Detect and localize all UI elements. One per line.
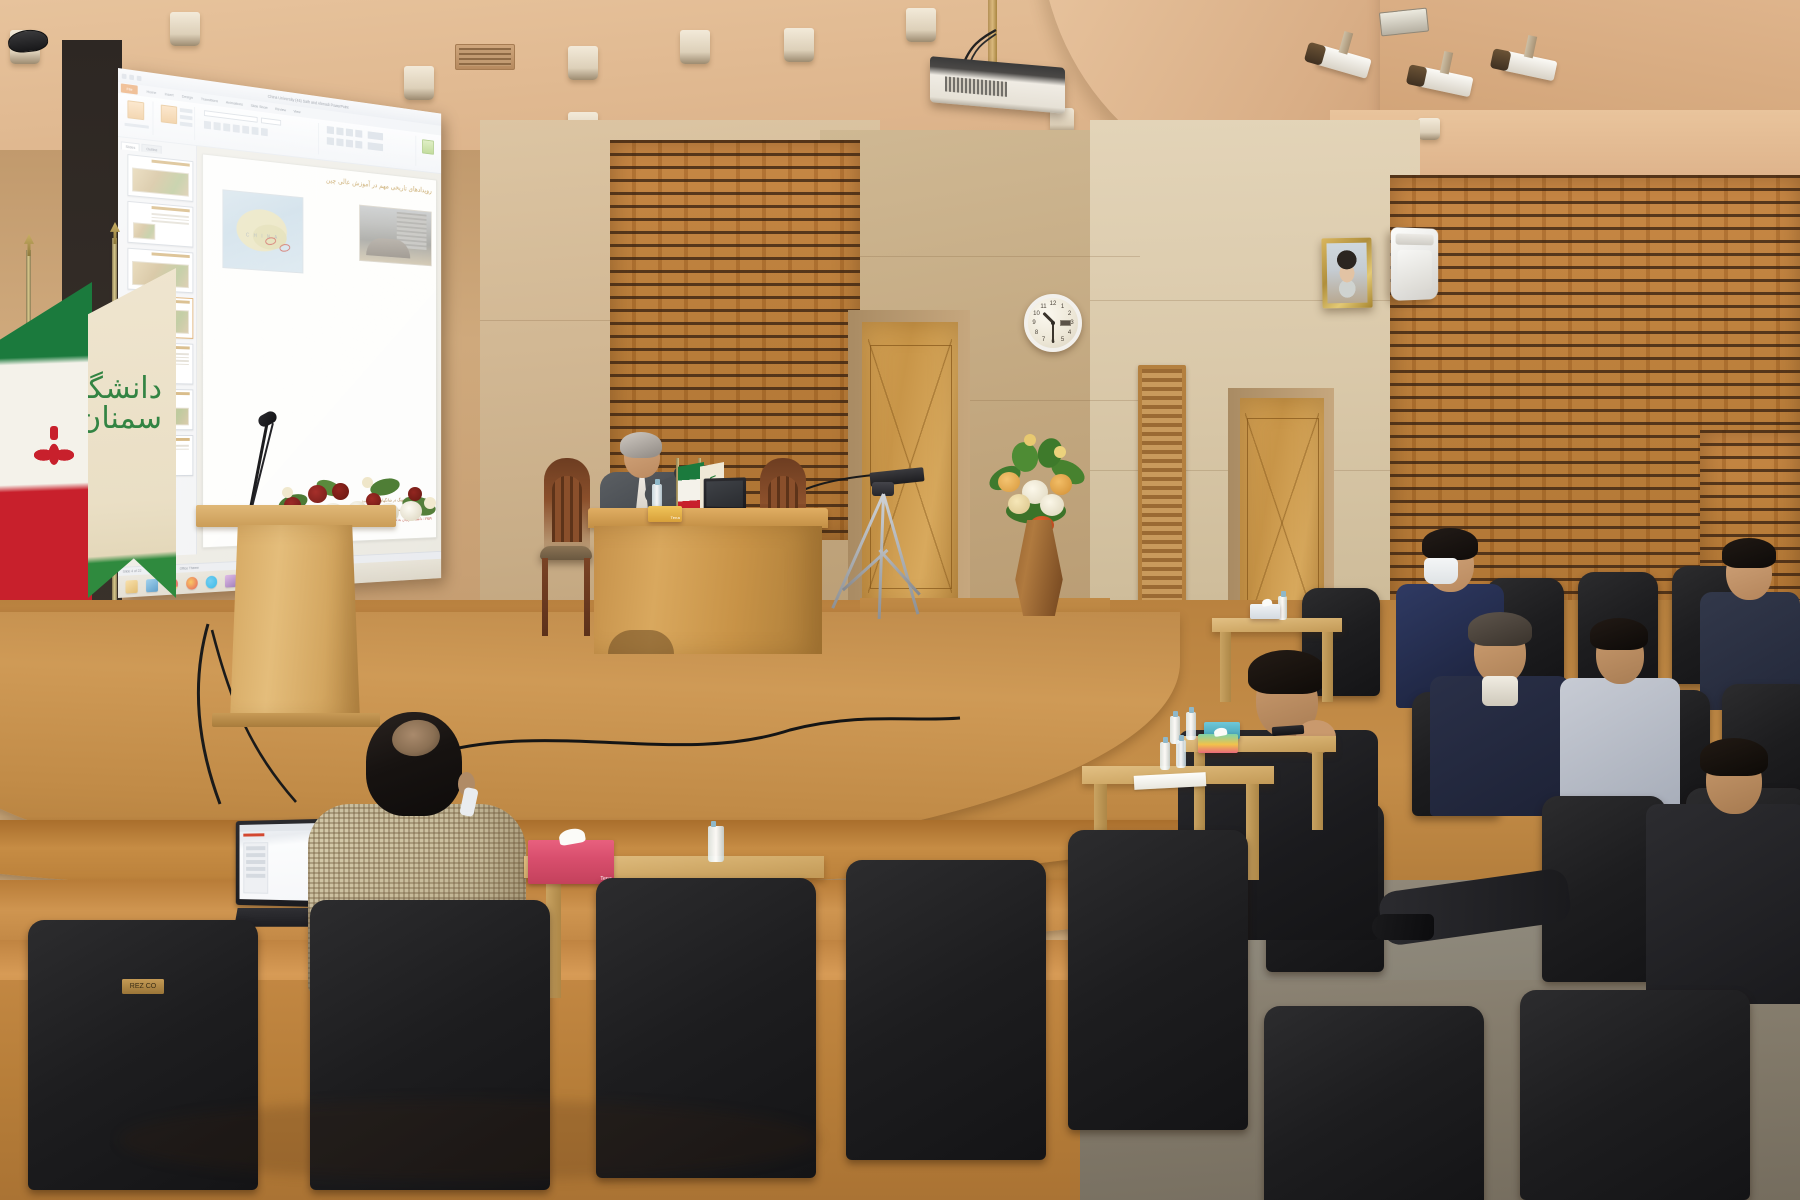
portrait-image — [1326, 243, 1367, 304]
person-hair — [1722, 538, 1776, 568]
table-leg — [1312, 752, 1323, 830]
audience-seat-front[interactable] — [1068, 830, 1248, 1130]
flower-cream-bud — [424, 497, 436, 509]
pane-tab-slides[interactable]: Slides — [121, 141, 140, 151]
slide-thumbnail[interactable]: 2 — [127, 201, 193, 248]
wall-clock: 12 1 2 3 4 5 6 7 8 9 10 11 — [1024, 294, 1082, 352]
wall-loudspeaker — [1391, 227, 1439, 301]
downlight-icon — [1418, 118, 1440, 140]
tissue-box[interactable] — [1250, 604, 1280, 619]
underline-button[interactable] — [223, 123, 230, 132]
tissue-brand-label: Tena — [671, 515, 680, 520]
person-hair — [1248, 650, 1326, 694]
thumb-image — [132, 167, 189, 196]
person-hair — [1422, 528, 1478, 560]
audience-seat-front[interactable] — [846, 860, 1046, 1160]
increase-indent-button[interactable] — [355, 130, 362, 138]
table-leg — [1322, 632, 1333, 702]
downlight-icon — [680, 30, 710, 64]
clock-date-window — [1060, 320, 1071, 326]
shapes-gallery-button[interactable] — [422, 139, 434, 155]
paste-button[interactable] — [127, 100, 144, 120]
person-collar — [1482, 676, 1518, 706]
section-button[interactable] — [180, 122, 193, 127]
laptop-lid — [704, 477, 746, 510]
ribbon-tab-insert[interactable]: Insert — [165, 91, 174, 97]
podium-lectern-top — [196, 505, 396, 527]
pane-tab-outline[interactable]: Outline — [142, 144, 162, 154]
clock-numeral: 7 — [1042, 337, 1045, 343]
ribbon-group-slides — [157, 102, 195, 140]
flower-cream-bloom — [1008, 494, 1030, 514]
ribbon-tab-design[interactable]: Design — [182, 94, 193, 100]
clock-numeral: 12 — [1050, 301, 1057, 307]
framed-portrait — [1321, 238, 1372, 309]
flower-orange-bloom — [998, 472, 1020, 492]
water-bottle[interactable] — [1176, 740, 1186, 768]
text-direction-button[interactable] — [368, 142, 383, 151]
slide-thumbnail[interactable]: 1 — [127, 154, 193, 202]
bold-button[interactable] — [204, 121, 211, 130]
wooden-louver-vent — [1138, 365, 1186, 615]
person-hair — [1590, 618, 1648, 650]
clock-numeral: 4 — [1068, 330, 1071, 336]
wooden-chair-left[interactable] — [540, 458, 592, 636]
ribbon-tab-transitions[interactable]: Transitions — [201, 96, 218, 103]
flower-red-rose — [408, 487, 422, 501]
laptop-app-accent — [243, 833, 264, 836]
flower-red-rose — [308, 485, 327, 503]
water-bottle-front[interactable] — [708, 826, 724, 862]
iran-national-flag — [0, 282, 92, 642]
align-left-button[interactable] — [327, 137, 334, 145]
downlight-icon — [906, 8, 936, 42]
tripod-leg — [882, 494, 919, 615]
seat-brand-badge: REZ CO — [122, 979, 164, 994]
ribbon-tab-animations[interactable]: Animations — [226, 100, 243, 107]
audience-side-table-rear — [1212, 618, 1342, 632]
thumb-image — [133, 222, 155, 240]
thumb-title-bar — [152, 206, 190, 212]
flower-red-rose — [332, 483, 349, 500]
china-map-image: C H I N A — [222, 189, 303, 273]
tissue-tuft — [1261, 598, 1272, 607]
decrease-indent-button[interactable] — [346, 128, 353, 136]
numbering-button[interactable] — [336, 127, 343, 135]
clock-numeral: 2 — [1068, 311, 1071, 317]
clock-center-pin — [1051, 321, 1055, 325]
table-leg — [1194, 752, 1205, 830]
audience-person-grey-hair — [1430, 612, 1570, 812]
downlight-icon — [568, 46, 598, 80]
ribbon-group-paragraph — [324, 124, 417, 166]
university-flag: دانشگاه سمنان — [88, 268, 176, 598]
audience-person-far-right-front — [1646, 744, 1800, 1004]
align-center-button[interactable] — [336, 138, 343, 146]
char-spacing-button[interactable] — [252, 127, 259, 135]
university-logo-script: دانشگاه سمنان — [96, 374, 162, 494]
tissue-box[interactable] — [1198, 734, 1238, 753]
flower-orange-bloom — [1050, 474, 1072, 495]
tripod-leg — [831, 493, 885, 608]
audience-seat-front[interactable] — [1264, 1006, 1484, 1200]
laptop-app-sidepane — [243, 842, 268, 894]
font-color-button[interactable] — [261, 128, 268, 136]
clock-numeral: 10 — [1033, 311, 1040, 317]
podium-body — [230, 525, 360, 720]
status-slide-count: Slide 4 of 22 — [123, 569, 142, 574]
columns-button[interactable] — [368, 131, 383, 140]
media-player-icon[interactable] — [146, 578, 158, 592]
chair-leg — [542, 558, 548, 636]
projector-vent-grill — [945, 76, 1007, 96]
align-right-button[interactable] — [346, 139, 353, 147]
table-leg — [1220, 632, 1231, 702]
person-shoe — [1372, 914, 1434, 940]
ceiling-air-vent — [455, 44, 515, 70]
ribbon-tab-home[interactable]: Home — [146, 89, 156, 95]
auditorium-scene: 12 1 2 3 4 5 6 7 8 9 10 11 China Univers… — [0, 0, 1800, 1200]
flower-white-rose — [400, 501, 422, 521]
flower-bud — [1024, 434, 1036, 446]
desk-surface — [588, 508, 828, 528]
tissue-box[interactable]: Tena — [648, 506, 682, 522]
map-highlight-circle — [265, 236, 277, 245]
strikethrough-button[interactable] — [242, 126, 249, 134]
reset-button[interactable] — [180, 115, 193, 120]
downlight-icon — [170, 12, 200, 46]
new-slide-button[interactable] — [161, 105, 177, 125]
flower-cream-bud — [362, 477, 373, 488]
shadow-button[interactable] — [233, 124, 240, 132]
justify-button[interactable] — [355, 141, 362, 149]
bullets-button[interactable] — [327, 126, 334, 134]
audience-seat-front[interactable] — [1520, 990, 1750, 1200]
security-camera-icon — [1379, 8, 1429, 37]
clock-minute-hand — [1052, 323, 1054, 343]
clock-numeral: 5 — [1061, 337, 1064, 343]
clock-numeral: 11 — [1040, 304, 1046, 310]
quick-access-save-icon[interactable] — [122, 73, 127, 79]
font-family-select[interactable] — [204, 110, 258, 123]
water-bottle[interactable] — [1160, 742, 1170, 770]
tissue-tuft — [1213, 727, 1227, 737]
windows-explorer-icon[interactable] — [126, 579, 138, 593]
downlight-icon — [784, 28, 814, 62]
camera-tripod — [828, 470, 948, 640]
quick-access-undo-icon[interactable] — [129, 74, 134, 80]
ribbon-group-clipboard — [122, 97, 154, 135]
flower-white-bloom — [1040, 494, 1064, 516]
italic-button[interactable] — [214, 122, 221, 131]
thumb-text-lines — [152, 213, 189, 227]
scene-shadow — [120, 1100, 820, 1180]
laptop-screen — [706, 481, 743, 508]
iran-emblem-icon — [34, 432, 74, 468]
tissue-box-front[interactable]: Tena — [528, 840, 614, 884]
chair-slats — [552, 476, 582, 542]
thumb-title-bar — [152, 160, 190, 167]
ribbon-tab-review[interactable]: Review — [275, 106, 286, 112]
mic-stalk — [249, 421, 269, 508]
person-torso — [1646, 804, 1800, 1004]
presenter-hair — [620, 432, 662, 458]
clock-numeral: 9 — [1032, 320, 1035, 326]
stone-seam — [820, 256, 1140, 257]
downlight-icon — [404, 66, 434, 100]
quick-access-redo-icon[interactable] — [137, 75, 142, 81]
layout-button[interactable] — [180, 108, 193, 114]
flower-cream-bud — [282, 487, 293, 498]
ribbon-tab-view[interactable]: View — [293, 109, 300, 115]
person-hair — [1468, 612, 1532, 646]
desk-front-panel — [594, 526, 822, 654]
clipboard-label — [125, 123, 149, 129]
flower-bud — [1054, 446, 1066, 458]
person-hair — [1700, 738, 1768, 776]
university-building-photo — [359, 205, 432, 267]
thumb-title-bar — [152, 252, 190, 258]
speaker-podium — [196, 505, 396, 735]
ribbon-tab-slideshow[interactable]: Slide Show — [251, 103, 268, 110]
map-highlight-circle — [279, 243, 291, 252]
presenter-desk — [588, 508, 828, 656]
clock-numeral: 1 — [1061, 304, 1064, 310]
clock-numeral: 8 — [1035, 330, 1038, 336]
face-mask — [1424, 558, 1458, 584]
font-size-select[interactable] — [261, 117, 281, 125]
water-bottle[interactable] — [1186, 712, 1196, 740]
ribbon-group-drawing — [421, 136, 436, 168]
